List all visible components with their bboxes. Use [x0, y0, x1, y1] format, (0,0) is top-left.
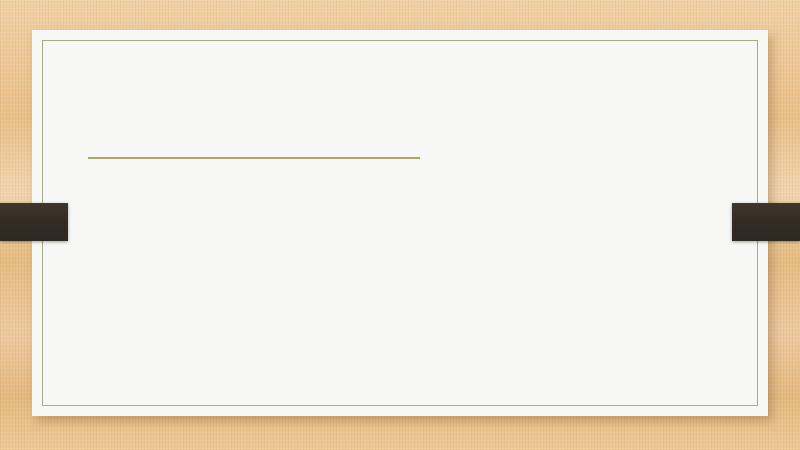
decorative-bar-left — [0, 203, 68, 241]
slide-canvas: Занятия по Монтессори: изучение температ… — [0, 0, 800, 450]
slide-card — [32, 30, 768, 416]
title-divider-rule — [88, 157, 420, 159]
card-inner-border — [42, 40, 758, 406]
decorative-bar-right — [732, 203, 800, 241]
